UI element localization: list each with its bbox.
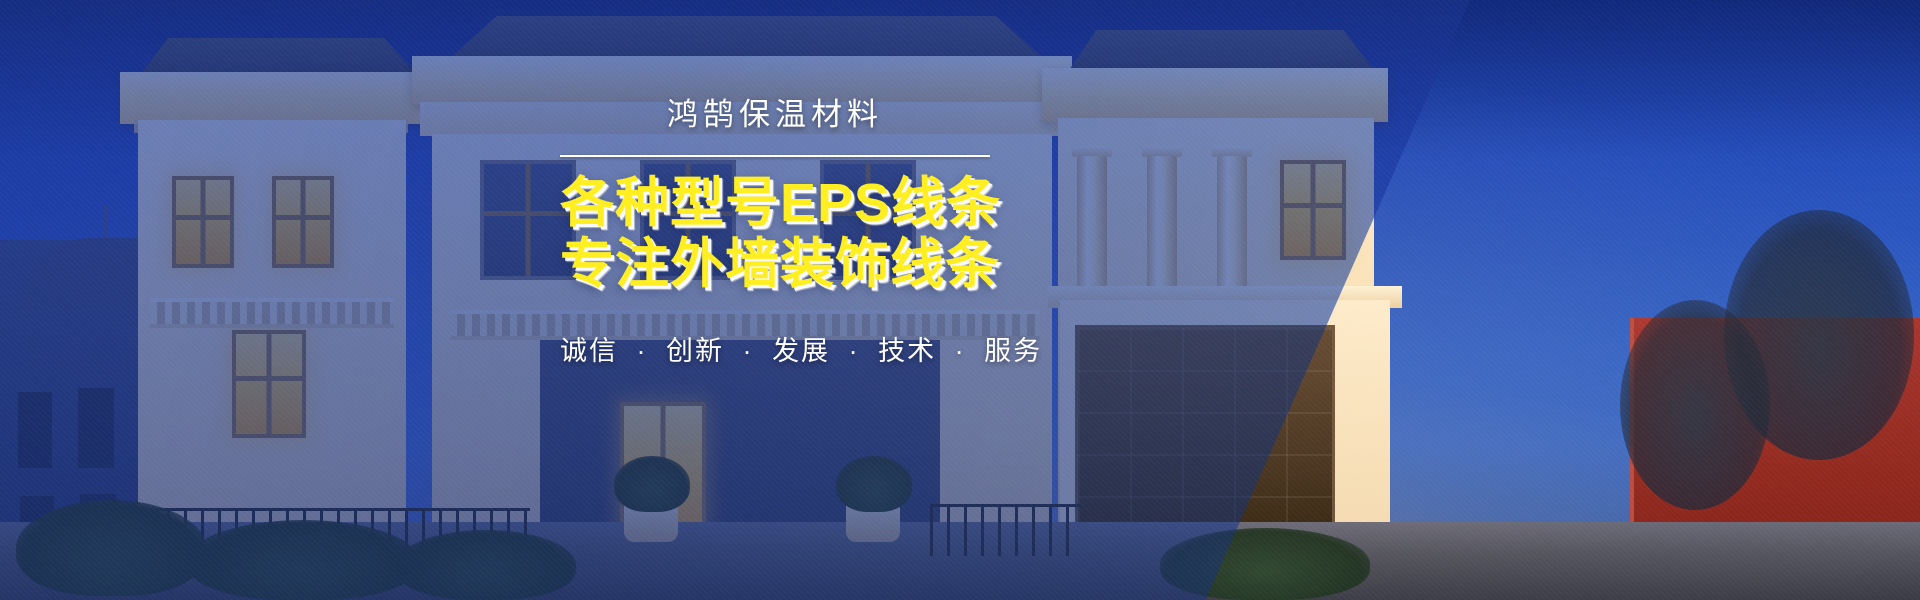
tagline-item-5: 服务 xyxy=(984,336,1042,366)
banner-content: 鸿鹄保温材料 各种型号EPS线条 专注外墙装饰线条 诚信 · 创新 · 发展 ·… xyxy=(560,96,990,368)
headline-line-1: 各种型号EPS线条 xyxy=(560,173,1001,233)
promo-banner: 鸿鹄保温材料 各种型号EPS线条 专注外墙装饰线条 诚信 · 创新 · 发展 ·… xyxy=(0,0,1920,600)
brand-name: 鸿鹄保温材料 xyxy=(560,96,990,135)
tagline-separator: · xyxy=(955,336,966,366)
tagline-separator: · xyxy=(637,336,648,366)
headline-line-2: 专注外墙装饰线条 xyxy=(560,234,990,295)
tagline-separator: · xyxy=(743,336,754,366)
tagline-item-3: 发展 xyxy=(772,336,830,366)
tagline-item-1: 诚信 xyxy=(560,336,618,366)
tree xyxy=(1620,300,1770,510)
headline: 各种型号EPS线条 专注外墙装饰线条 xyxy=(560,173,990,295)
tagline: 诚信 · 创新 · 发展 · 技术 · 服务 xyxy=(560,329,990,368)
tagline-separator: · xyxy=(849,336,860,366)
tagline-item-2: 创新 xyxy=(666,336,724,366)
divider-rule xyxy=(560,155,990,157)
tagline-item-4: 技术 xyxy=(878,336,936,366)
